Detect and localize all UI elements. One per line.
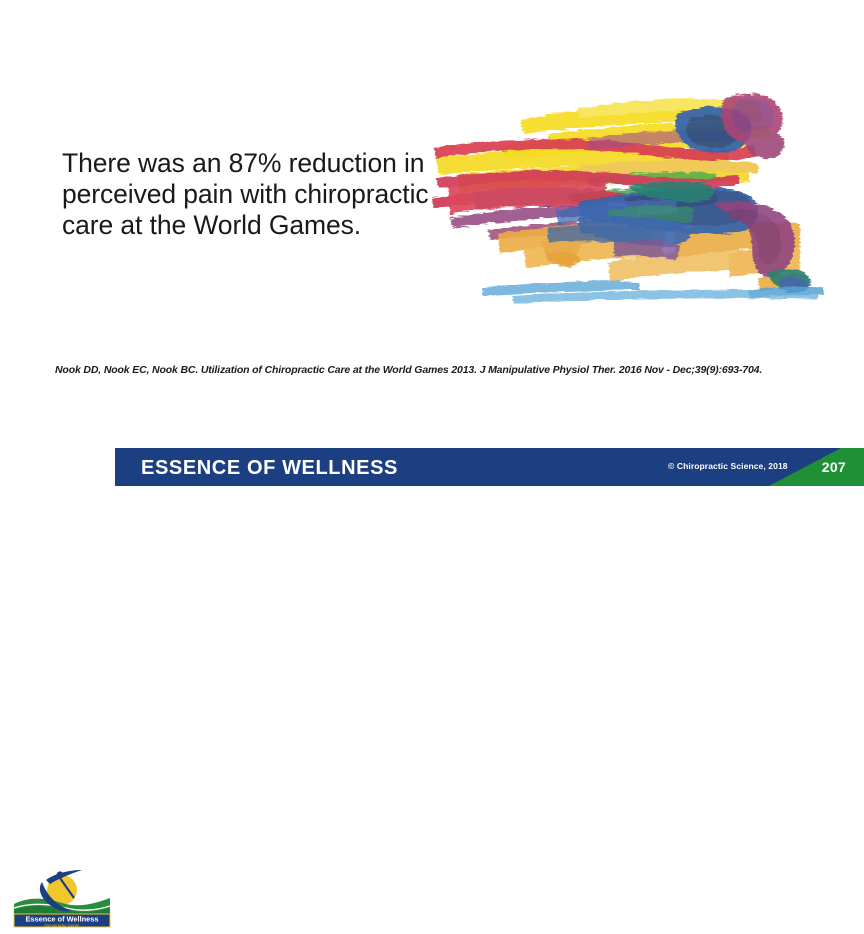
page-number: 207 (822, 459, 846, 475)
footer-copyright: © Chiropractic Science, 2018 (668, 461, 788, 471)
logo-tagline-text: Chiropractic Center (45, 923, 80, 927)
slide-canvas: There was an 87% reduction in perceived … (0, 0, 864, 486)
person-head-icon (56, 871, 63, 878)
runner-artwork-svg (428, 82, 848, 307)
citation-text: Nook DD, Nook EC, Nook BC. Utilization o… (55, 364, 825, 376)
logo-svg: Essence of Wellness Chiropractic Center (12, 864, 112, 934)
logo: Essence of Wellness Chiropractic Center (12, 864, 112, 934)
footer: ESSENCE OF WELLNESS © Chiropractic Scien… (0, 448, 864, 486)
runner-illustration (428, 82, 848, 307)
footer-bar: ESSENCE OF WELLNESS © Chiropractic Scien… (115, 448, 864, 486)
footer-brand-title: ESSENCE OF WELLNESS (141, 457, 398, 480)
page-title: There was an 87% reduction in perceived … (62, 148, 432, 241)
logo-name-text: Essence of Wellness (26, 915, 99, 924)
